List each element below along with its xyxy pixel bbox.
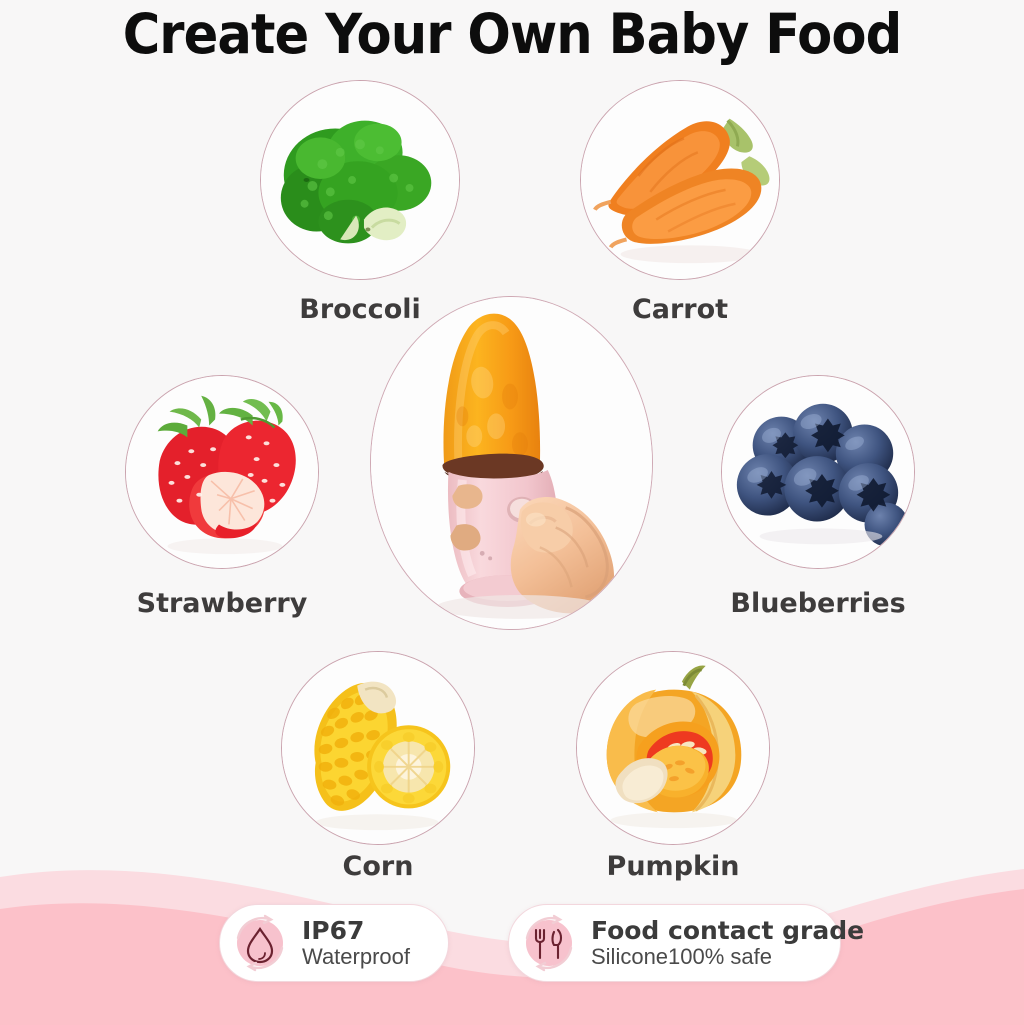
food-grade-title: Food contact grade [591,918,864,944]
strawberry-image [126,376,318,568]
fork-knife-icon [518,912,580,974]
hero-product-circle[interactable] [370,296,653,630]
corn-image [282,652,474,844]
ip67-subtitle: Waterproof [302,946,410,969]
food-label-pumpkin: Pumpkin [576,851,770,882]
food-circle-carrot[interactable] [580,80,780,280]
ip67-text: IP67 Waterproof [302,918,410,969]
ip67-icon-wrap [229,912,291,974]
food-label-blueberries: Blueberries [696,588,940,619]
water-drop-icon [229,912,291,974]
food-label-strawberry: Strawberry [100,588,344,619]
pumpkin-image [577,652,769,844]
broccoli-image [261,81,459,279]
food-circle-strawberry[interactable] [125,375,319,569]
badge-ip67[interactable]: IP67 Waterproof [219,904,449,982]
food-label-corn: Corn [281,851,475,882]
food-label-broccoli: Broccoli [260,294,460,325]
food-grade-subtitle: Silicone100% safe [591,946,864,969]
badge-food-contact-grade[interactable]: Food contact grade Silicone100% safe [508,904,841,982]
food-circle-blueberries[interactable] [721,375,915,569]
food-circle-corn[interactable] [281,651,475,845]
carrot-image [581,81,779,279]
food-label-carrot: Carrot [580,294,780,325]
food-grade-text: Food contact grade Silicone100% safe [591,918,864,969]
ip67-title: IP67 [302,918,410,944]
hero-product-image [371,297,652,629]
food-grade-icon-wrap [518,912,580,974]
food-circle-pumpkin[interactable] [576,651,770,845]
page-title: Create Your Own Baby Food [36,2,988,66]
blueberries-image [722,376,914,568]
food-circle-broccoli[interactable] [260,80,460,280]
infographic-canvas: Create Your Own Baby Food [0,0,1024,1025]
